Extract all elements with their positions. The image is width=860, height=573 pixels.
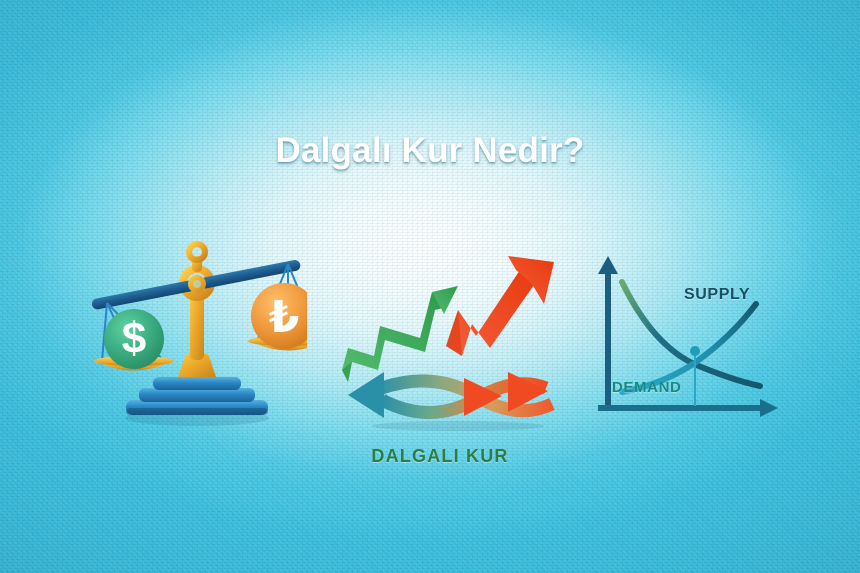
- chart-label-supply: SUPPLY: [684, 286, 750, 304]
- left-arrowhead: [348, 372, 384, 418]
- balance-scale-illustration: $ ₺: [92, 236, 307, 431]
- lira-symbol: ₺: [269, 292, 300, 343]
- fluctuating-arrows-illustration: [340, 248, 575, 433]
- intertwined-arrows: [348, 372, 552, 431]
- green-rising-arrow: [342, 286, 458, 382]
- scale-column: [178, 244, 216, 377]
- page-title: Dalgalı Kur Nedir?: [0, 131, 860, 171]
- banner-image: Dalgalı Kur Nedir?: [0, 0, 860, 573]
- chart-x-axis: [598, 399, 778, 417]
- dollar-symbol: $: [122, 314, 146, 363]
- scale-base: [126, 377, 268, 415]
- red-rising-arrow: [446, 256, 554, 356]
- equilibrium-point: [690, 346, 700, 356]
- coin-dollar: $: [104, 309, 164, 369]
- chart-label-demand: DEMAND: [612, 379, 681, 396]
- supply-demand-chart: [592, 252, 792, 427]
- arrows-caption: DALGALI KUR: [320, 446, 560, 467]
